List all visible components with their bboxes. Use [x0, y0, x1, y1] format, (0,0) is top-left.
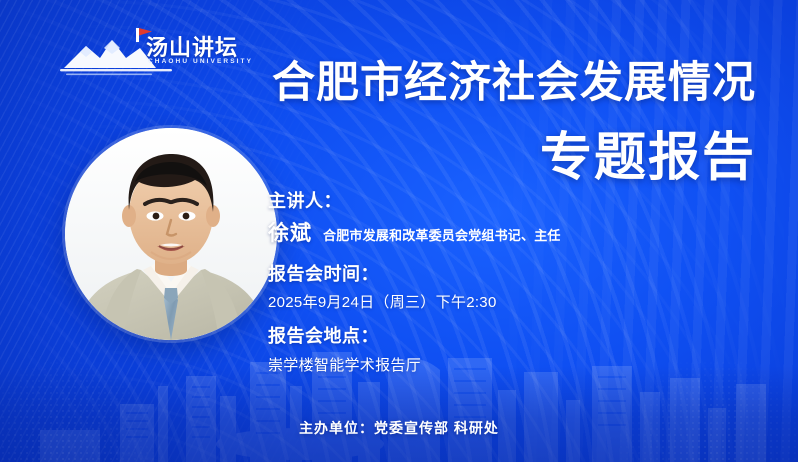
- brand-logo: 汤山讲坛 CHAOHU UNIVERSITY: [60, 24, 240, 80]
- poster-title-line2: 专题报告: [540, 132, 756, 184]
- spacer: [268, 312, 561, 325]
- speaker-title: 合肥市发展和改革委员会党组书记、主任: [323, 225, 561, 244]
- time-value: 2025年9月24日（周三）下午2:30: [268, 291, 561, 312]
- event-info-block: 主讲人： 徐斌 合肥市发展和改革委员会党组书记、主任 报告会时间： 2025年9…: [268, 190, 561, 375]
- logo-name-en: CHAOHU UNIVERSITY: [148, 58, 253, 65]
- speaker-row: 徐斌 合肥市发展和改革委员会党组书记、主任: [268, 217, 561, 247]
- speaker-label: 主讲人：: [268, 190, 561, 213]
- bottom-gradient-band: [0, 366, 798, 462]
- spacer: [268, 247, 561, 263]
- poster-title-line1: 合肥市经济社会发展情况: [272, 62, 756, 105]
- time-label: 报告会时间：: [268, 263, 561, 286]
- organizer-footer: 主办单位：党委宣传部 科研处: [0, 418, 798, 438]
- place-value: 崇学楼智能学术报告厅: [268, 354, 561, 375]
- poster-canvas: 汤山讲坛 CHAOHU UNIVERSITY: [0, 0, 798, 462]
- place-label: 报告会地点：: [268, 325, 561, 348]
- speaker-portrait: [65, 128, 277, 340]
- speaker-name: 徐斌: [268, 217, 312, 247]
